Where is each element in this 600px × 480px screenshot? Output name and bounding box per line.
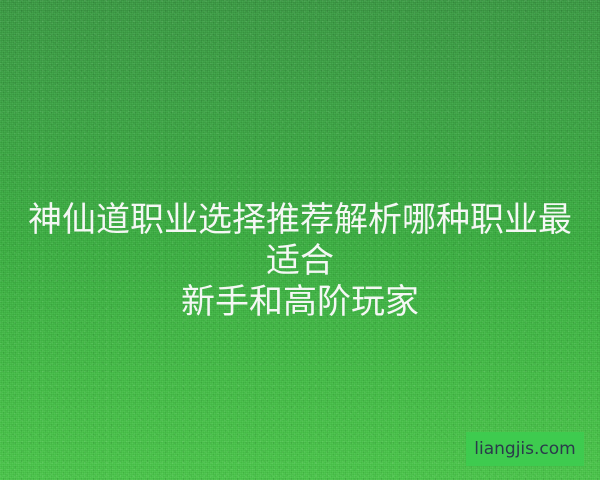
page-title: 神仙道职业选择推荐解析哪种职业最适合 新手和高阶玩家 — [0, 200, 600, 323]
watermark-label: liangjis.com — [474, 441, 575, 458]
poster-canvas: 神仙道职业选择推荐解析哪种职业最适合 新手和高阶玩家 liangjis.com — [0, 0, 600, 480]
watermark-badge: liangjis.com — [466, 432, 584, 466]
